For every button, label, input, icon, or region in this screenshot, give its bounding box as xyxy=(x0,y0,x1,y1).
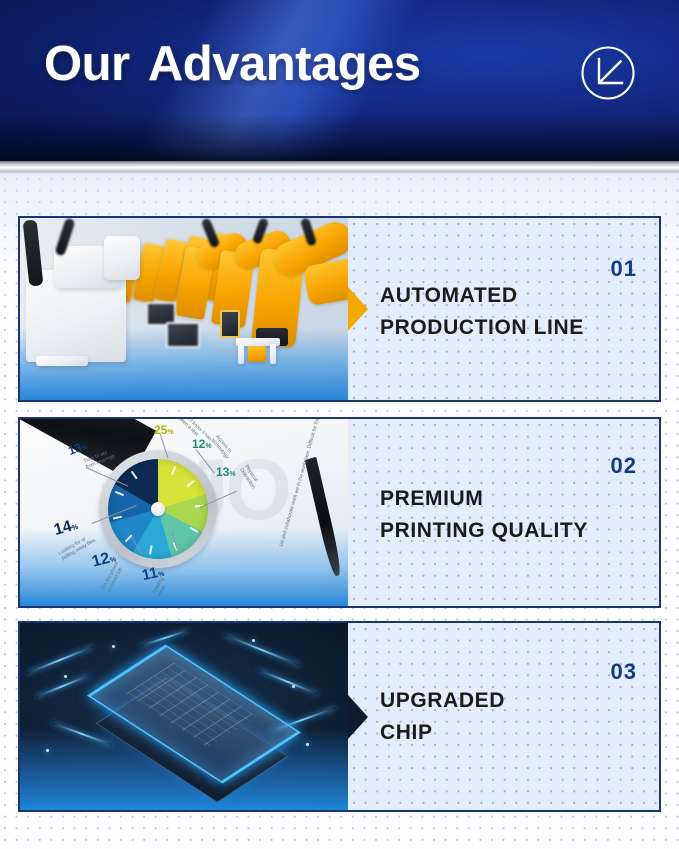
pie-chart-graphic xyxy=(108,459,208,559)
production-line-scene xyxy=(20,218,348,400)
pie-label-value: 14% xyxy=(52,516,80,540)
premium-printing-quality-photo: JO xyxy=(20,419,348,606)
page-title: Our Advantages xyxy=(44,36,421,92)
pie-label-value: 25% xyxy=(154,423,174,437)
advantage-card-body: 02 PREMIUM PRINTING QUALITY xyxy=(348,419,659,606)
card-heading: UPGRADED CHIP xyxy=(380,685,505,749)
metallic-divider xyxy=(0,161,679,174)
pie-label-value: 13% xyxy=(216,465,236,479)
advantage-card-body: 03 UPGRADED CHIP xyxy=(348,623,659,810)
card-heading: PREMIUM PRINTING QUALITY xyxy=(380,483,588,547)
card-number: 01 xyxy=(611,256,637,282)
upgraded-chip-photo xyxy=(20,623,348,810)
printed-infographic-scene: JO xyxy=(20,419,348,606)
card-pointer-icon xyxy=(348,695,368,739)
advantage-card[interactable]: 01 AUTOMATED PRODUCTION LINE xyxy=(18,216,661,402)
pie-chart-hub xyxy=(151,502,165,516)
chip-scene xyxy=(20,623,348,810)
pen-object xyxy=(305,457,344,578)
advantage-card[interactable]: JO xyxy=(18,417,661,608)
advantages-page: Our Advantages xyxy=(0,0,679,849)
advantage-card-body: 01 AUTOMATED PRODUCTION LINE xyxy=(348,218,659,400)
card-heading: AUTOMATED PRODUCTION LINE xyxy=(380,280,584,344)
card-pointer-icon xyxy=(348,287,368,331)
advantage-card[interactable]: 03 UPGRADED CHIP xyxy=(18,621,661,812)
page-header: Our Advantages xyxy=(0,0,679,161)
pie-label-value: 12% xyxy=(192,437,212,451)
card-number: 03 xyxy=(611,659,637,685)
circle-arrow-down-left-logo-icon xyxy=(579,44,637,102)
card-number: 02 xyxy=(611,453,637,479)
automated-production-line-photo xyxy=(20,218,348,400)
